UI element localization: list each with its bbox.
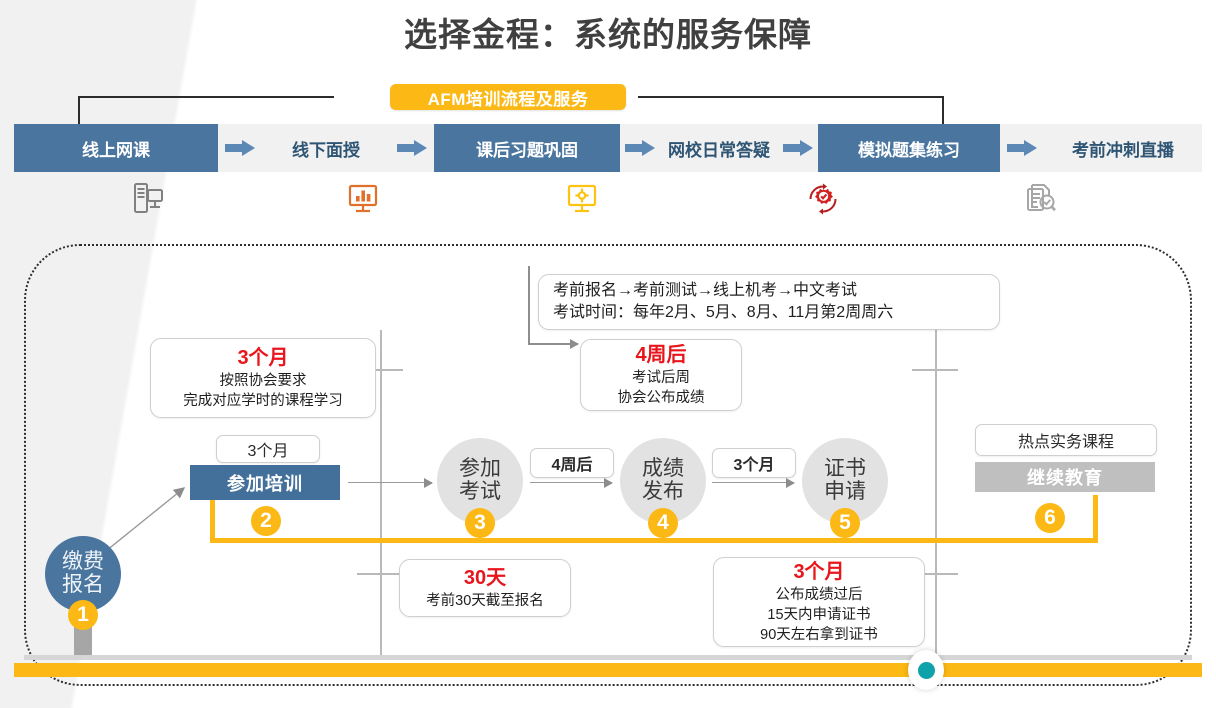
connector-node3-to-node4 <box>530 482 612 483</box>
certificate-note-line-3: 90天左右拿到证书 <box>760 625 878 645</box>
flow-node-6-number: 6 <box>1035 503 1065 533</box>
flow-node-5-line-2: 申请 <box>824 481 866 504</box>
process-step-2[interactable]: 线下面授 <box>262 124 390 172</box>
process-arrow-3 <box>620 124 660 172</box>
node-2-duration-pill: 3个月 <box>216 435 320 463</box>
process-step-4-label: 网校日常答疑 <box>668 136 770 161</box>
flow-node-4-number: 4 <box>648 508 678 538</box>
score-note-line-2: 协会公布成绩 <box>618 388 705 408</box>
flow-node-4-line-1: 成绩 <box>642 458 684 481</box>
base-rail <box>24 655 1192 660</box>
yellow-bracket-right-leg <box>1093 495 1098 543</box>
gridline-2 <box>935 330 937 660</box>
gear-refresh-check-icon <box>793 172 853 226</box>
process-step-1[interactable]: 线上网课 <box>14 124 218 172</box>
certificate-note-line-2: 15天内申请证书 <box>767 605 870 625</box>
certificate-note: 3个月 公布成绩过后 15天内申请证书 90天左右拿到证书 <box>713 557 925 647</box>
yellow-bracket-base <box>210 538 1098 543</box>
training-note-line-1: 按照协会要求 <box>220 371 307 391</box>
certificate-note-highlight: 3个月 <box>793 560 844 585</box>
score-note: 4周后 考试后周 协会公布成绩 <box>580 339 742 411</box>
afm-badge: AFM培训流程及服务 <box>390 84 626 110</box>
process-arrow-1 <box>218 124 262 172</box>
deadline-note-highlight: 30天 <box>464 566 506 591</box>
timeline-rail <box>14 663 1202 677</box>
process-step-3[interactable]: 课后习题巩固 <box>434 124 620 172</box>
right-arrow-icon <box>397 140 427 156</box>
process-arrow-4 <box>778 124 818 172</box>
process-step-2-label: 线下面授 <box>292 136 360 161</box>
process-step-4[interactable]: 网校日常答疑 <box>660 124 778 172</box>
process-arrow-5 <box>1000 124 1044 172</box>
training-note: 3个月 按照协会要求 完成对应学时的课程学习 <box>150 338 376 418</box>
score-note-line-1: 考试后周 <box>632 368 690 388</box>
flow-node-3-line-1: 参加 <box>459 458 501 481</box>
exam-info-line-2: 考试时间：每年2月、5月、8月、11月第2周周六 <box>553 302 893 324</box>
flow-node-1-number: 1 <box>68 600 98 630</box>
right-arrow-icon <box>225 140 255 156</box>
flow-node-2-number: 2 <box>251 506 281 536</box>
process-step-3-label: 课后习题巩固 <box>476 136 578 161</box>
right-arrow-icon <box>1007 140 1037 156</box>
flow-node-3-number: 3 <box>465 508 495 538</box>
flow-node-4-line-2: 发布 <box>642 481 684 504</box>
desktop-computer-icon <box>118 172 178 226</box>
process-band: 线上网课 线下面授 课后习题巩固 网校日常答疑 模拟题集练习 考前冲刺 <box>14 124 1202 172</box>
connector-node2-to-node3 <box>348 482 432 483</box>
process-step-6[interactable]: 考前冲刺直播 <box>1044 124 1202 172</box>
training-note-highlight: 3个月 <box>237 346 288 371</box>
document-magnifier-check-icon <box>1010 172 1070 226</box>
flow-node-3-line-2: 考试 <box>459 481 501 504</box>
process-icon-row <box>0 172 1216 226</box>
node-4-to-5-duration-pill: 3个月 <box>712 448 796 478</box>
gridline-2-tick-top <box>912 369 958 371</box>
deadline-note: 30天 考前30天截至报名 <box>399 559 571 617</box>
bracket-top-left <box>78 96 334 98</box>
node-6-course-pill: 热点实务课程 <box>975 424 1157 456</box>
flow-node-5-line-1: 证书 <box>824 458 866 481</box>
training-note-line-2: 完成对应学时的课程学习 <box>183 391 343 411</box>
yellow-bracket-left-leg <box>210 495 215 543</box>
bracket-top-right <box>638 96 944 98</box>
process-step-5-label: 模拟题集练习 <box>858 136 960 161</box>
exam-note-elbow-vertical <box>528 266 530 344</box>
exam-info-note: 考前报名→考前测试→线上机考→中文考试 考试时间：每年2月、5月、8月、11月第… <box>538 274 1000 330</box>
node-3-to-4-duration-pill: 4周后 <box>530 448 614 478</box>
certificate-note-line-1: 公布成绩过后 <box>776 585 863 605</box>
flow-node-1-line-1: 缴费 <box>62 551 104 574</box>
score-note-highlight: 4周后 <box>635 343 686 368</box>
process-step-6-label: 考前冲刺直播 <box>1072 136 1174 161</box>
connector-node4-to-node5 <box>712 482 794 483</box>
right-arrow-icon <box>625 140 655 156</box>
right-arrow-icon <box>783 140 813 156</box>
timeline-marker[interactable] <box>908 650 944 690</box>
gridline-1 <box>380 330 382 660</box>
flow-node-1-line-2: 报名 <box>62 574 104 597</box>
gridline-1-tick-bottom <box>357 573 403 575</box>
slide-canvas: 选择金程：系统的服务保障 AFM培训流程及服务 线上网课 线下面授 课后习题巩固… <box>0 0 1216 708</box>
process-step-1-label: 线上网课 <box>82 136 150 161</box>
bracket-right-leg <box>942 96 944 126</box>
flow-node-6[interactable]: 继续教育 <box>975 462 1155 492</box>
monitor-gear-icon <box>552 172 612 226</box>
flow-node-5-number: 5 <box>830 508 860 538</box>
exam-info-line-1: 考前报名→考前测试→线上机考→中文考试 <box>553 280 857 302</box>
exam-note-elbow-horizontal <box>528 343 578 345</box>
flow-node-2[interactable]: 参加培训 <box>190 465 340 500</box>
deadline-note-line-1: 考前30天截至报名 <box>426 591 544 611</box>
bracket-left-leg <box>78 96 80 126</box>
process-step-5[interactable]: 模拟题集练习 <box>818 124 1000 172</box>
page-title: 选择金程：系统的服务保障 <box>0 8 1216 56</box>
monitor-bar-chart-icon <box>333 172 393 226</box>
process-arrow-2 <box>390 124 434 172</box>
